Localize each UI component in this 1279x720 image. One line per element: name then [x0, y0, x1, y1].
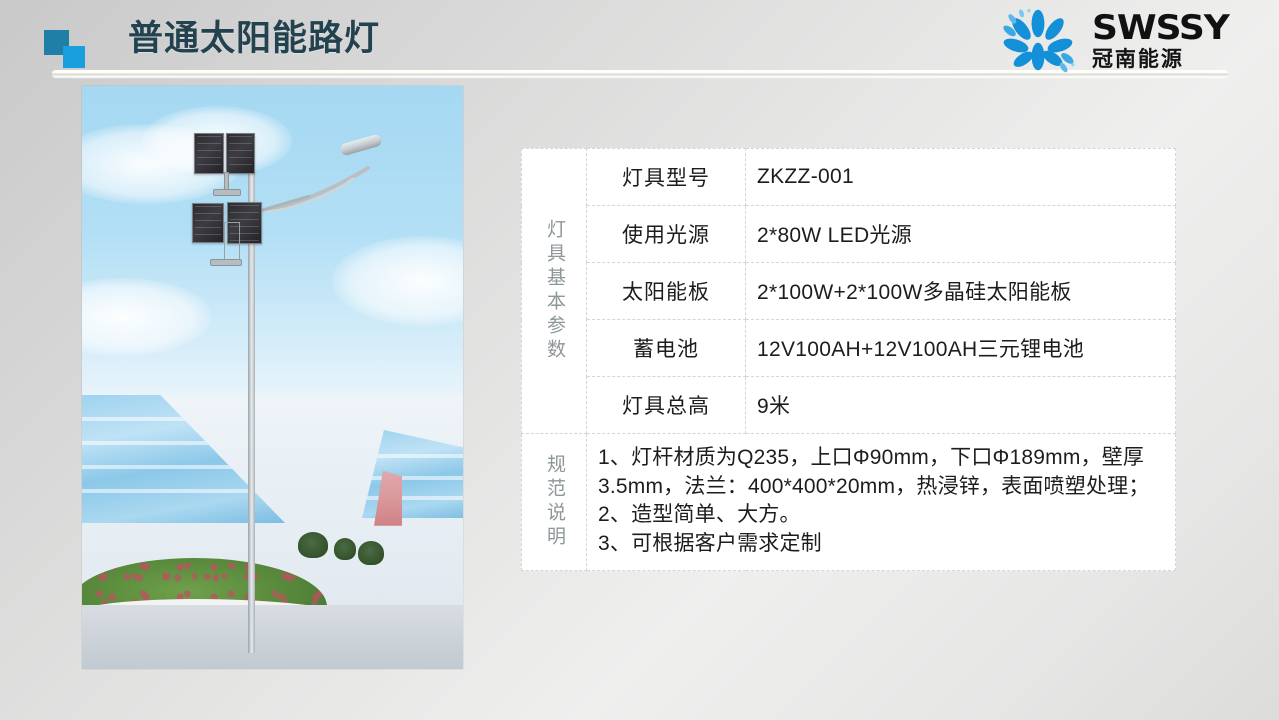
- slide-header: 普通太阳能路灯: [0, 0, 1279, 82]
- photo-pavement: [82, 605, 463, 669]
- photo-tree: [298, 532, 328, 558]
- table-row-spec: 规范说明 1、灯杆材质为Q235，上口Φ90mm，下口Φ189mm，壁厚3.5m…: [522, 434, 1176, 571]
- row-value: ZKZZ-001: [746, 152, 1175, 202]
- decor-square-light-icon: [63, 46, 85, 68]
- row-key-cell: 灯具型号: [587, 149, 746, 206]
- logo-text-block: SWSSY 冠南能源: [1092, 11, 1221, 70]
- product-photo: [82, 86, 463, 669]
- row-key: 使用光源: [587, 206, 745, 262]
- row-key-cell: 使用光源: [587, 206, 746, 263]
- photo-tree: [358, 541, 384, 565]
- slide-canvas: 普通太阳能路灯: [0, 0, 1279, 720]
- spec-text: 1、灯杆材质为Q235，上口Φ90mm，下口Φ189mm，壁厚3.5mm，法兰：…: [587, 434, 1175, 570]
- photo-lamp-bracket: [210, 259, 242, 266]
- row-value: 12V100AH+12V100AH三元锂电池: [746, 320, 1175, 376]
- row-key: 太阳能板: [587, 263, 745, 319]
- row-value-cell: 2*100W+2*100W多晶硅太阳能板: [746, 263, 1176, 320]
- petal-burst-emblem-icon: [992, 7, 1084, 73]
- photo-solar-panel: [226, 133, 255, 174]
- row-key-cell: 太阳能板: [587, 263, 746, 320]
- group-label-cell: 灯具基本参数: [522, 149, 587, 434]
- spec-label: 规范说明: [544, 454, 564, 550]
- table-row: 蓄电池 12V100AH+12V100AH三元锂电池: [522, 320, 1176, 377]
- row-key: 蓄电池: [587, 320, 745, 376]
- row-value-cell: 9米: [746, 377, 1176, 434]
- photo-lamp-arm: [250, 162, 378, 214]
- photo-solar-panel: [192, 203, 224, 243]
- spec-text-cell: 1、灯杆材质为Q235，上口Φ90mm，下口Φ189mm，壁厚3.5mm，法兰：…: [587, 434, 1176, 571]
- page-title: 普通太阳能路灯: [128, 16, 380, 62]
- photo-tree: [334, 538, 356, 560]
- row-key: 灯具总高: [587, 377, 745, 433]
- table-row: 使用光源 2*80W LED光源: [522, 206, 1176, 263]
- logo-subtitle: 冠南能源: [1092, 49, 1221, 70]
- table-row: 灯具基本参数 灯具型号 ZKZZ-001: [522, 149, 1176, 206]
- row-value-cell: 2*80W LED光源: [746, 206, 1176, 263]
- table-row: 太阳能板 2*100W+2*100W多晶硅太阳能板: [522, 263, 1176, 320]
- row-value-cell: ZKZZ-001: [746, 149, 1176, 206]
- table-row: 灯具总高 9米: [522, 377, 1176, 434]
- photo-lamp-bracket: [224, 222, 240, 264]
- group-label: 灯具基本参数: [544, 219, 564, 363]
- row-key-cell: 蓄电池: [587, 320, 746, 377]
- photo-lamp-bracket: [213, 189, 241, 196]
- row-value: 2*100W+2*100W多晶硅太阳能板: [746, 263, 1175, 319]
- row-key: 灯具型号: [587, 149, 745, 205]
- row-key-cell: 灯具总高: [587, 377, 746, 434]
- photo-solar-panel: [194, 133, 224, 174]
- row-value-cell: 12V100AH+12V100AH三元锂电池: [746, 320, 1176, 377]
- company-logo: SWSSY 冠南能源: [992, 6, 1221, 74]
- spec-label-cell: 规范说明: [522, 434, 587, 571]
- row-value: 9米: [746, 377, 1175, 433]
- row-value: 2*80W LED光源: [746, 206, 1175, 262]
- spec-table: 灯具基本参数 灯具型号 ZKZZ-001 使用光源 2*80W LED光源: [521, 148, 1176, 571]
- logo-wordmark: SWSSY: [1092, 11, 1229, 45]
